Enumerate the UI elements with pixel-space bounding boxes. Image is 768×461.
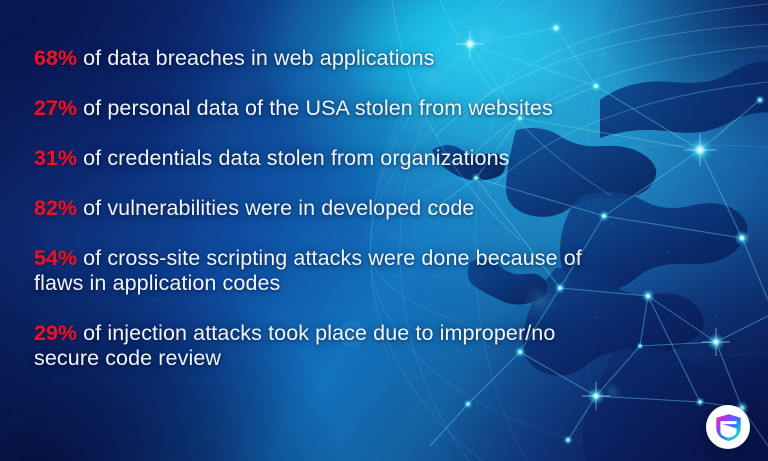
infographic-canvas: 68% of data breaches in web applications… <box>0 0 768 461</box>
stat-item-4-wrap: flaws in application codes <box>34 271 728 296</box>
stat-item-5: 29% of injection attacks took place due … <box>34 321 728 346</box>
stat-text-4-line-1: flaws in application codes <box>34 271 280 295</box>
stat-percent-3: 82% <box>34 196 77 220</box>
stat-item-2: 31% of credentials data stolen from orga… <box>34 146 728 171</box>
stat-text-1: of personal data of the USA stolen from … <box>77 96 553 120</box>
shield-icon <box>715 414 742 441</box>
stat-percent-5: 29% <box>34 321 77 345</box>
stat-item-3: 82% of vulnerabilities were in developed… <box>34 196 728 221</box>
stat-percent-1: 27% <box>34 96 77 120</box>
stat-item-5-wrap: secure code review <box>34 346 728 371</box>
stat-text-4-line-0: of cross-site scripting attacks were don… <box>77 246 582 270</box>
stat-percent-2: 31% <box>34 146 77 170</box>
stat-text-5-line-1: secure code review <box>34 346 221 370</box>
stat-text-2: of credentials data stolen from organiza… <box>77 146 509 170</box>
stat-item-4: 54% of cross-site scripting attacks were… <box>34 246 728 271</box>
stat-text-0: of data breaches in web applications <box>77 46 434 70</box>
stat-text-3: of vulnerabilities were in developed cod… <box>77 196 474 220</box>
stat-item-1: 27% of personal data of the USA stolen f… <box>34 96 728 121</box>
stat-item-0: 68% of data breaches in web applications <box>34 46 728 71</box>
stat-percent-4: 54% <box>34 246 77 270</box>
stat-text-5-line-0: of injection attacks took place due to i… <box>77 321 555 345</box>
stat-percent-0: 68% <box>34 46 77 70</box>
brand-logo-badge[interactable] <box>706 405 750 449</box>
statistics-list: 68% of data breaches in web applications… <box>34 46 728 371</box>
